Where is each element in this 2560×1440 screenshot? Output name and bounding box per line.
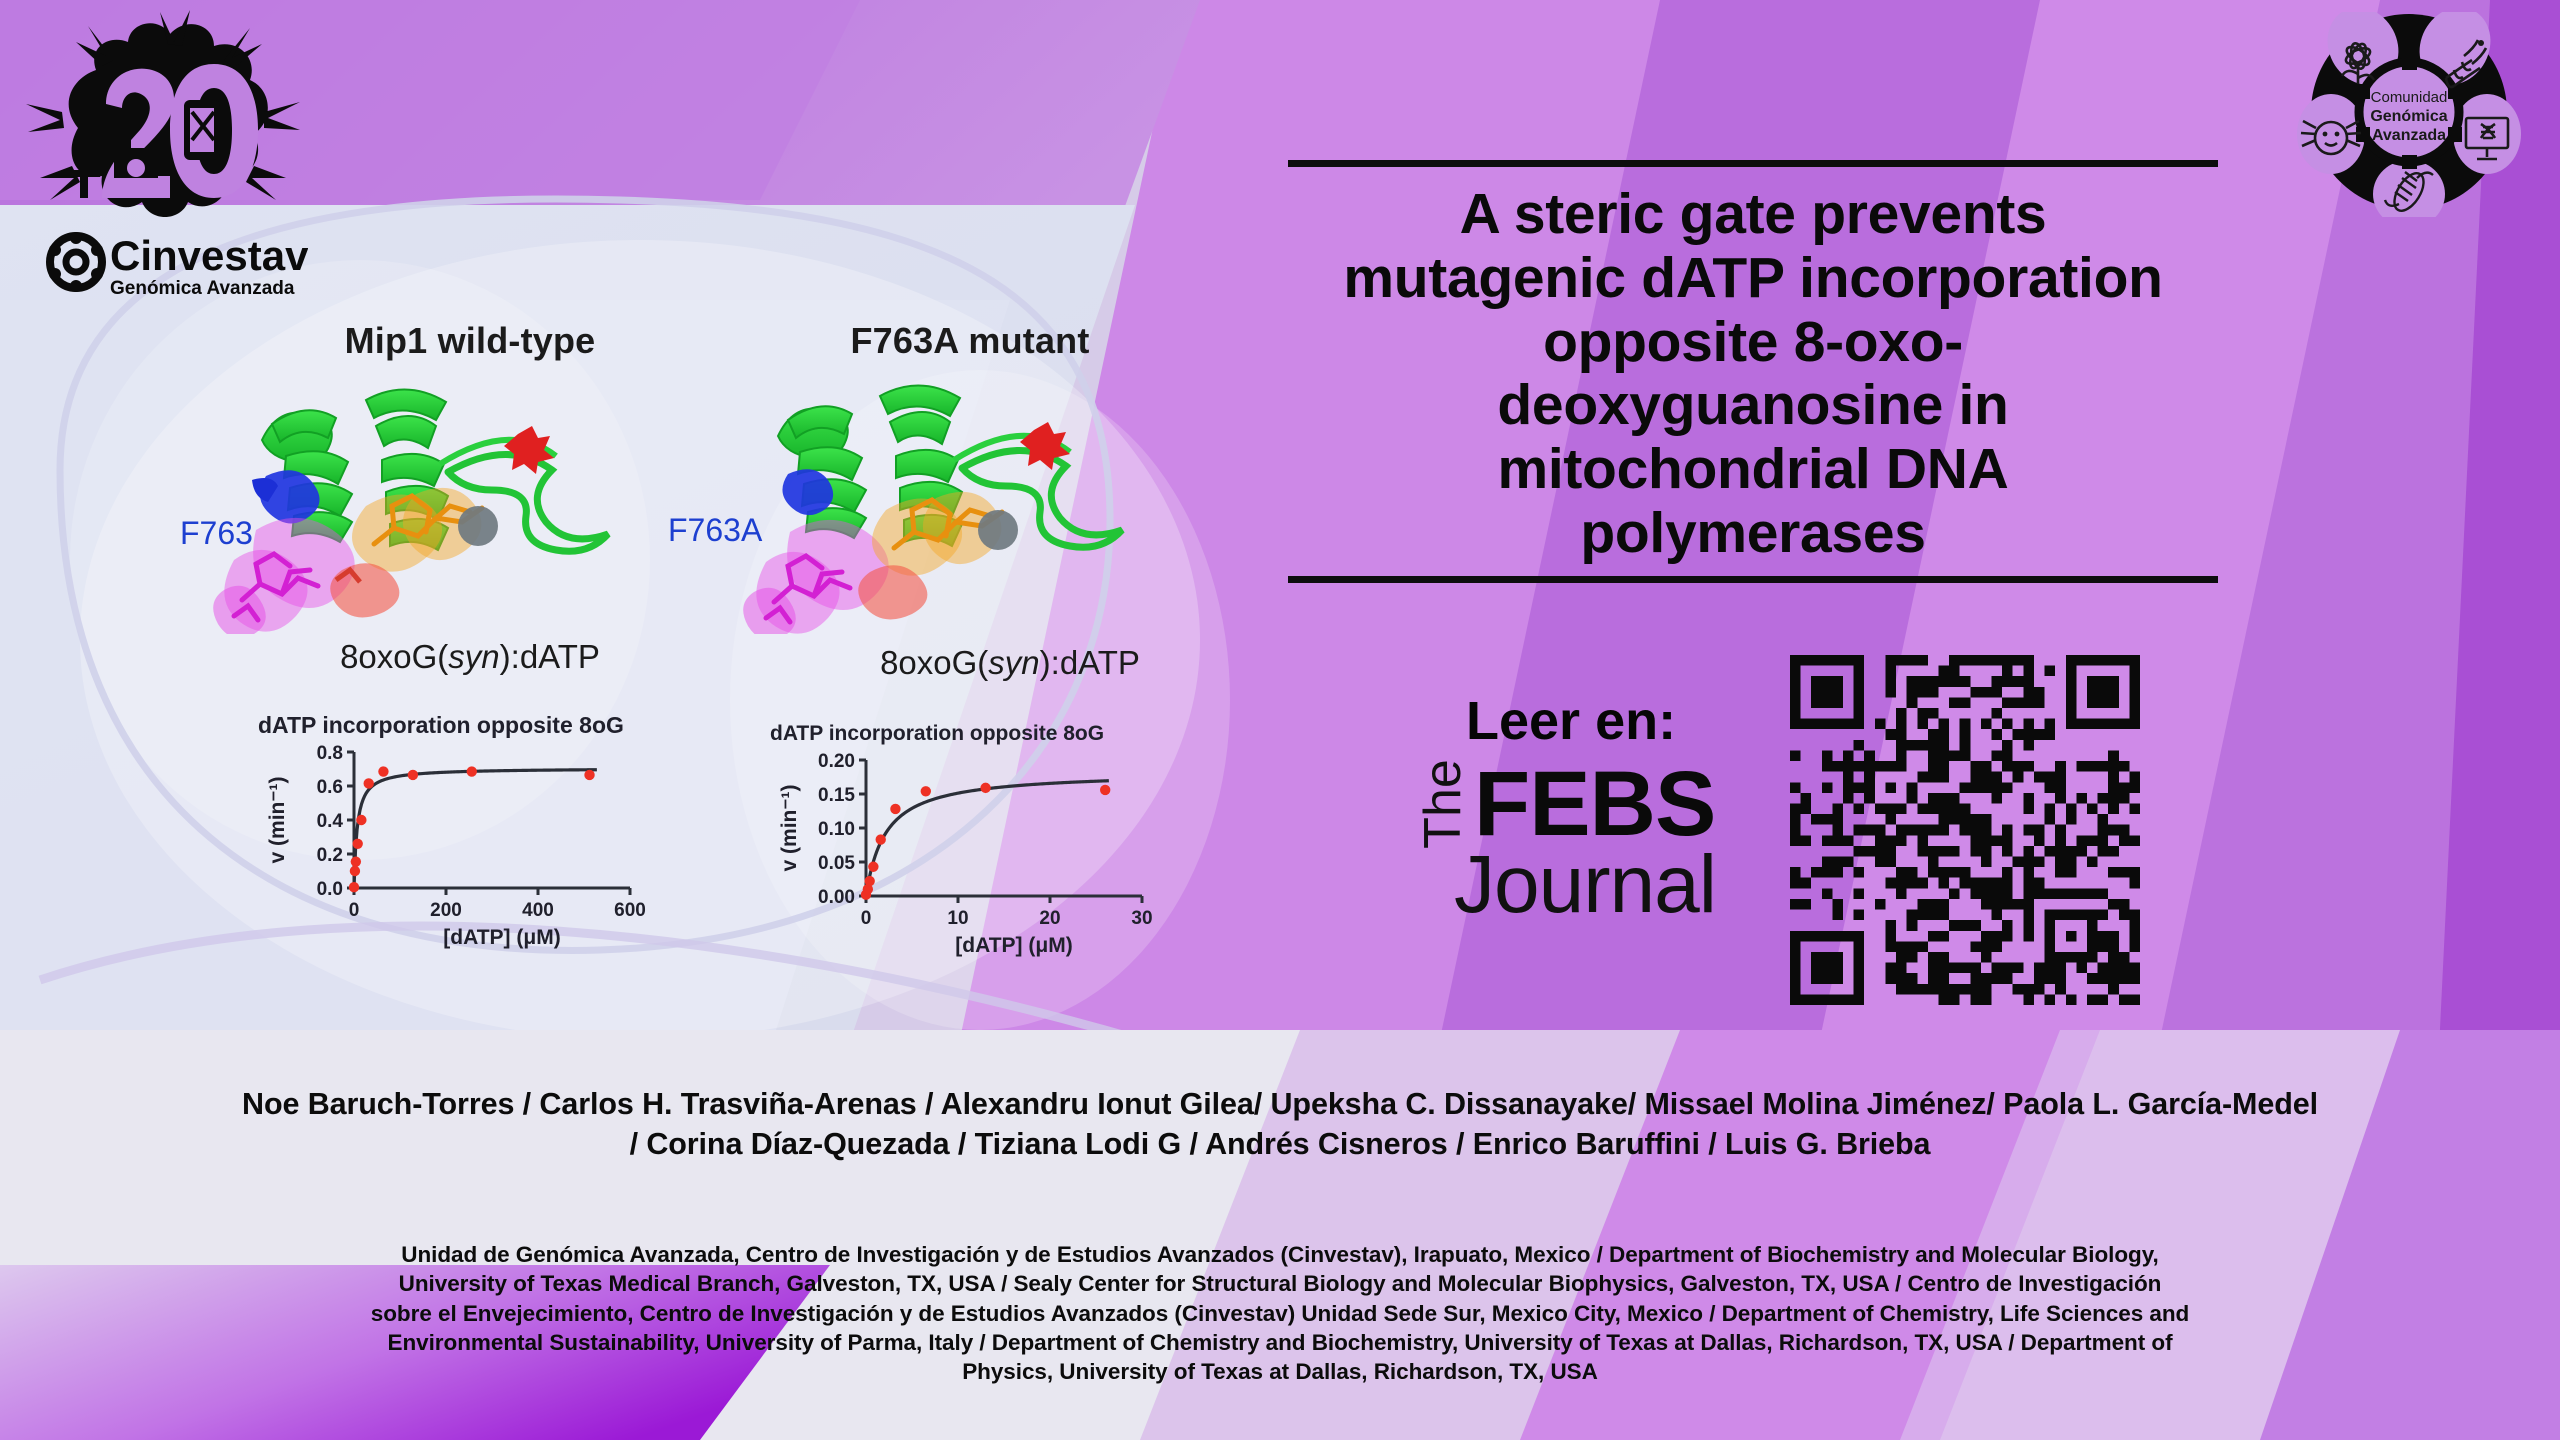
caption-post: ):dATP xyxy=(500,638,600,675)
plot-title-wildtype: dATP incorporation opposite 8oG xyxy=(258,712,658,739)
svg-text:v (min⁻¹): v (min⁻¹) xyxy=(266,777,289,864)
affiliation-line-1: Unidad de Genómica Avanzada, Centro de I… xyxy=(70,1240,2490,1269)
svg-text:0.8: 0.8 xyxy=(317,743,343,764)
affiliation-line-3: sobre el Envejecimiento, Centro de Inves… xyxy=(70,1299,2490,1328)
svg-text:0.0: 0.0 xyxy=(317,879,343,900)
svg-text:0: 0 xyxy=(861,908,872,929)
svg-text:10: 10 xyxy=(947,908,968,929)
svg-text:0.6: 0.6 xyxy=(317,777,343,798)
structure-panel-mutant: F763A mutant F763A xyxy=(690,320,1250,680)
svg-text:0.15: 0.15 xyxy=(818,785,855,806)
svg-text:0.4: 0.4 xyxy=(317,811,344,832)
author-line-1: Noe Baruch-Torres / Carlos H. Trasviña-A… xyxy=(60,1085,2500,1125)
svg-text:v (min⁻¹): v (min⁻¹) xyxy=(778,785,801,872)
community-line2: Genómica xyxy=(2370,108,2447,125)
svg-text:0: 0 xyxy=(349,900,360,921)
structure-title-wildtype: Mip1 wild-type xyxy=(190,320,750,362)
cinvestav-logo: Cinvestav Genómica Avanzada xyxy=(18,8,308,303)
caption-post: ):dATP xyxy=(1040,644,1140,681)
caption-italic: syn xyxy=(988,644,1039,681)
comunidad-genomica-logo: Comunidad Genómica Avanzada xyxy=(2278,12,2540,217)
plot-mutant: dATP incorporation opposite 8oG 0.000.05… xyxy=(770,722,1170,982)
caption-pre: 8oxoG( xyxy=(340,638,448,675)
title-line-5: mitochondrial DNA xyxy=(1288,438,2218,502)
plot-wildtype: dATP incorporation opposite 8oG 0.00.20.… xyxy=(258,712,658,972)
svg-text:200: 200 xyxy=(430,900,462,921)
protein-structure-wildtype xyxy=(190,364,750,634)
svg-text:0.00: 0.00 xyxy=(818,887,855,908)
title-line-3: opposite 8-oxo- xyxy=(1288,311,2218,375)
title-block: A steric gate prevents mutagenic dATP in… xyxy=(1288,160,2218,583)
title-line-1: A steric gate prevents xyxy=(1288,183,2218,247)
svg-text:[dATP] (μM): [dATP] (μM) xyxy=(443,926,560,949)
svg-text:20: 20 xyxy=(1039,908,1060,929)
cinvestav-wordmark: Cinvestav xyxy=(110,232,308,279)
qr-code[interactable] xyxy=(1790,655,2140,1005)
title-rule-bottom xyxy=(1288,576,2218,583)
structure-caption-wildtype: 8oxoG(syn):dATP xyxy=(190,638,750,676)
cinvestav-unit: Genómica Avanzada xyxy=(110,278,295,299)
svg-text:0.2: 0.2 xyxy=(317,845,343,866)
title-line-4: deoxyguanosine in xyxy=(1288,374,2218,438)
protein-structure-mutant xyxy=(700,364,1260,634)
structure-caption-mutant: 8oxoG(syn):dATP xyxy=(730,644,1290,682)
svg-text:0.10: 0.10 xyxy=(818,819,855,840)
svg-text:400: 400 xyxy=(522,900,554,921)
affiliation-list: Unidad de Genómica Avanzada, Centro de I… xyxy=(70,1240,2490,1386)
svg-text:600: 600 xyxy=(614,900,646,921)
leer-en-label: Leer en: xyxy=(1466,690,1676,752)
caption-italic: syn xyxy=(448,638,499,675)
svg-text:0.05: 0.05 xyxy=(818,853,855,874)
caption-pre: 8oxoG( xyxy=(880,644,988,681)
plot-canvas-wildtype: 0.00.20.40.60.80200400600[dATP] (μM)v (m… xyxy=(258,738,658,968)
title-rule-top xyxy=(1288,160,2218,167)
author-line-2: / Corina Díaz-Quezada / Tiziana Lodi G /… xyxy=(60,1125,2500,1165)
affiliation-line-5: Physics, University of Texas at Dallas, … xyxy=(70,1357,2490,1386)
author-list: Noe Baruch-Torres / Carlos H. Trasviña-A… xyxy=(60,1085,2500,1164)
plot-title-mutant: dATP incorporation opposite 8oG xyxy=(770,722,1170,746)
febs-journal-logo[interactable]: Leer en: The FEBS Journal xyxy=(1418,690,1758,950)
svg-text:30: 30 xyxy=(1131,908,1152,929)
journal-journal-word: Journal xyxy=(1454,838,1716,932)
community-line1: Comunidad xyxy=(2371,89,2448,106)
svg-text:[dATP] (μM): [dATP] (μM) xyxy=(955,934,1072,957)
affiliation-line-2: University of Texas Medical Branch, Galv… xyxy=(70,1269,2490,1298)
community-line3: Avanzada xyxy=(2372,127,2446,144)
structure-title-mutant: F763A mutant xyxy=(690,320,1250,362)
svg-text:0.20: 0.20 xyxy=(818,751,855,772)
plot-canvas-mutant: 0.000.050.100.150.200102030[dATP] (μM)v … xyxy=(770,746,1170,976)
structure-panel-wildtype: Mip1 wild-type F763 xyxy=(190,320,750,680)
title-line-2: mutagenic dATP incorporation xyxy=(1288,247,2218,311)
affiliation-line-4: Environmental Sustainability, University… xyxy=(70,1328,2490,1357)
poster-canvas: Cinvestav Genómica Avanzada xyxy=(0,0,2560,1440)
title-line-6: polymerases xyxy=(1288,502,2218,566)
page-title: A steric gate prevents mutagenic dATP in… xyxy=(1288,167,2218,576)
